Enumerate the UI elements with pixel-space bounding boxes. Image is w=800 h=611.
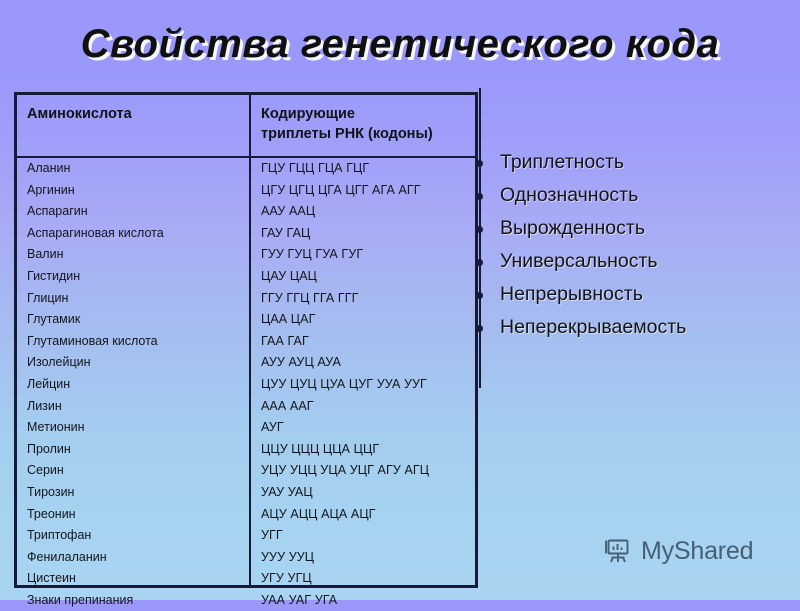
- property-item: Однозначность: [462, 179, 792, 212]
- property-item: Неперекрываемость: [462, 311, 792, 344]
- cell-codons: УАУ УАЦ: [261, 482, 491, 504]
- cell-aminoacid: Лизин: [27, 396, 249, 418]
- property-label: Триплетность: [500, 151, 624, 173]
- cell-aminoacid: Глицин: [27, 288, 249, 310]
- table-row: ГистидинЦАУ ЦАЦ: [17, 266, 475, 288]
- watermark: MyShared: [604, 536, 753, 566]
- table-row: ЛейцинЦУУ ЦУЦ ЦУА ЦУГ УУА УУГ: [17, 374, 475, 396]
- table-row: ВалинГУУ ГУЦ ГУА ГУГ: [17, 244, 475, 266]
- table-row: Аспарагиновая кислотаГАУ ГАЦ: [17, 223, 475, 245]
- cell-codons: ЦАУ ЦАЦ: [261, 266, 491, 288]
- table-row: ЛизинААА ААГ: [17, 396, 475, 418]
- cell-codons: ЦЦУ ЦЦЦ ЦЦА ЦЦГ: [261, 439, 491, 461]
- cell-aminoacid: Триптофан: [27, 525, 249, 547]
- cell-codons: УГУ УГЦ: [261, 568, 491, 590]
- genetic-code-table: Аминокислота Кодирующие триплеты РНК (ко…: [14, 92, 478, 588]
- cell-aminoacid: Глутамик: [27, 309, 249, 331]
- cell-codons: АЦУ АЦЦ АЦА АЦГ: [261, 504, 491, 526]
- bullet-dot-icon: [476, 259, 483, 266]
- cell-codons: ЦУУ ЦУЦ ЦУА ЦУГ УУА УУГ: [261, 374, 491, 396]
- cell-codons: АУУ АУЦ АУА: [261, 352, 491, 374]
- cell-aminoacid: Фенилаланин: [27, 547, 249, 569]
- column-header-codons: Кодирующие триплеты РНК (кодоны): [251, 95, 479, 144]
- property-item: Вырожденность: [462, 212, 792, 245]
- column-header-codons-line2: триплеты РНК (кодоны): [261, 124, 471, 144]
- table-row: ГлутамикЦАА ЦАГ: [17, 309, 475, 331]
- table-row: ЦистеинУГУ УГЦ: [17, 568, 475, 590]
- presentation-chart-icon: [604, 536, 634, 566]
- property-label: Однозначность: [500, 184, 638, 206]
- bullet-dot-icon: [476, 160, 483, 167]
- cell-aminoacid: Аспарагин: [27, 201, 249, 223]
- bullet-dot-icon: [476, 325, 483, 332]
- property-item: Универсальность: [462, 245, 792, 278]
- table-row: ПролинЦЦУ ЦЦЦ ЦЦА ЦЦГ: [17, 439, 475, 461]
- table-row: Знаки препинанияУАА УАГ УГА: [17, 590, 475, 611]
- bullet-dot-icon: [476, 226, 483, 233]
- table-row: ГлицинГГУ ГГЦ ГГА ГГГ: [17, 288, 475, 310]
- cell-codons: ЦГУ ЦГЦ ЦГА ЦГГ АГА АГГ: [261, 180, 491, 202]
- bullet-dot-icon: [476, 193, 483, 200]
- property-label: Универсальность: [500, 250, 658, 272]
- table-row: ФенилаланинУУУ УУЦ: [17, 547, 475, 569]
- table-header-row: Аминокислота Кодирующие триплеты РНК (ко…: [17, 95, 475, 156]
- property-label: Вырожденность: [500, 217, 645, 239]
- table-row: МетионинАУГ: [17, 417, 475, 439]
- table-row: Глутаминовая кислотаГАА ГАГ: [17, 331, 475, 353]
- table-row: АланинГЦУ ГЦЦ ГЦА ГЦГ: [17, 158, 475, 180]
- cell-codons: ГАУ ГАЦ: [261, 223, 491, 245]
- cell-codons: УУУ УУЦ: [261, 547, 491, 569]
- table-row: СеринУЦУ УЦЦ УЦА УЦГ АГУ АГЦ: [17, 460, 475, 482]
- column-header-aminoacid: Аминокислота: [17, 95, 249, 124]
- watermark-label: MyShared: [641, 537, 753, 566]
- cell-aminoacid: Глутаминовая кислота: [27, 331, 249, 353]
- cell-aminoacid: Цистеин: [27, 568, 249, 590]
- properties-list: ТриплетностьОднозначностьВырожденностьУн…: [462, 146, 792, 344]
- cell-codons: ГГУ ГГЦ ГГА ГГГ: [261, 288, 491, 310]
- bullet-dot-icon: [476, 292, 483, 299]
- cell-codons: УАА УАГ УГА: [261, 590, 491, 611]
- cell-aminoacid: Тирозин: [27, 482, 249, 504]
- column-header-codons-line1: Кодирующие: [261, 106, 355, 122]
- cell-codons: ГУУ ГУЦ ГУА ГУГ: [261, 244, 491, 266]
- cell-aminoacid: Знаки препинания: [27, 590, 249, 611]
- cell-aminoacid: Треонин: [27, 504, 249, 526]
- cell-codons: ЦАА ЦАГ: [261, 309, 491, 331]
- property-label: Неперекрываемость: [500, 316, 686, 338]
- property-item: Непрерывность: [462, 278, 792, 311]
- cell-aminoacid: Валин: [27, 244, 249, 266]
- cell-aminoacid: Изолейцин: [27, 352, 249, 374]
- cell-aminoacid: Аланин: [27, 158, 249, 180]
- cell-aminoacid: Аргинин: [27, 180, 249, 202]
- property-item: Триплетность: [462, 146, 792, 179]
- cell-codons: ААА ААГ: [261, 396, 491, 418]
- table-row: ИзолейцинАУУ АУЦ АУА: [17, 352, 475, 374]
- cell-aminoacid: Аспарагиновая кислота: [27, 223, 249, 245]
- cell-aminoacid: Гистидин: [27, 266, 249, 288]
- cell-codons: ГАА ГАГ: [261, 331, 491, 353]
- table-row: ТриптофанУГГ: [17, 525, 475, 547]
- cell-codons: ААУ ААЦ: [261, 201, 491, 223]
- property-label: Непрерывность: [500, 283, 643, 305]
- table-row: ТирозинУАУ УАЦ: [17, 482, 475, 504]
- table-row: АспарагинААУ ААЦ: [17, 201, 475, 223]
- cell-codons: АУГ: [261, 417, 491, 439]
- cell-codons: ГЦУ ГЦЦ ГЦА ГЦГ: [261, 158, 491, 180]
- page-title: Свойства генетического кода: [0, 22, 800, 67]
- table-row: АргининЦГУ ЦГЦ ЦГА ЦГГ АГА АГГ: [17, 180, 475, 202]
- cell-aminoacid: Серин: [27, 460, 249, 482]
- table-body: АланинГЦУ ГЦЦ ГЦА ГЦГАргининЦГУ ЦГЦ ЦГА …: [17, 158, 475, 585]
- cell-aminoacid: Лейцин: [27, 374, 249, 396]
- cell-codons: УЦУ УЦЦ УЦА УЦГ АГУ АГЦ: [261, 460, 491, 482]
- cell-aminoacid: Метионин: [27, 417, 249, 439]
- cell-aminoacid: Пролин: [27, 439, 249, 461]
- table-row: ТреонинАЦУ АЦЦ АЦА АЦГ: [17, 504, 475, 526]
- cell-codons: УГГ: [261, 525, 491, 547]
